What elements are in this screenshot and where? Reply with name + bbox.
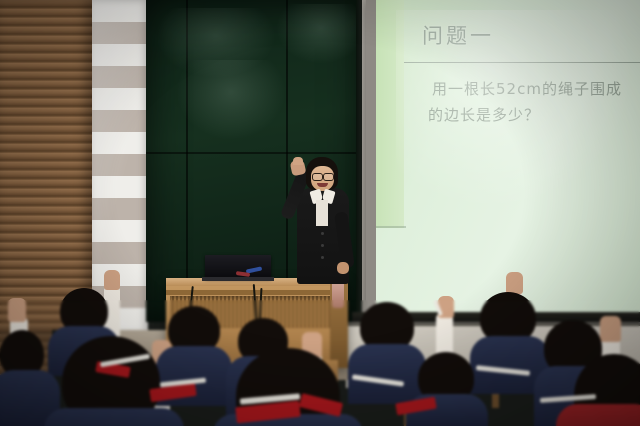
projector-screen-surface	[376, 0, 640, 312]
teacher-jacket-button	[321, 256, 324, 259]
glasses-icon	[323, 173, 334, 181]
teacher-fingers	[293, 157, 303, 165]
projector-screen-band-edge	[376, 226, 406, 228]
slide-title: 问题一	[422, 20, 494, 50]
glasses-icon	[312, 173, 323, 181]
slide-body-line-2: 的边长是多少？	[428, 104, 540, 125]
projector-screen-left-band	[376, 0, 404, 228]
teacher-jacket-button	[321, 244, 324, 247]
slide-divider-rule	[404, 62, 640, 63]
tiled-wall-sheen	[92, 0, 148, 334]
podium-band	[166, 290, 348, 295]
raised-hand	[8, 298, 26, 322]
student-torso	[44, 408, 184, 426]
teacher-shirt-front	[316, 200, 328, 226]
wood-slat-wall-left	[0, 0, 92, 330]
classroom-photo: 问题一 用一根长52cm的绳子围成 的边长是多少？	[0, 0, 640, 426]
slide-body-line-1: 用一根长52cm的绳子围成	[432, 78, 622, 99]
teacher-lowered-hand	[337, 262, 349, 274]
teacher-jacket-button	[321, 232, 324, 235]
student-torso	[348, 344, 426, 404]
laptop-base	[202, 277, 274, 281]
student-torso-red	[556, 404, 640, 426]
raised-hand	[104, 270, 120, 290]
raised-hand	[600, 316, 621, 342]
raised-hand	[506, 272, 523, 294]
